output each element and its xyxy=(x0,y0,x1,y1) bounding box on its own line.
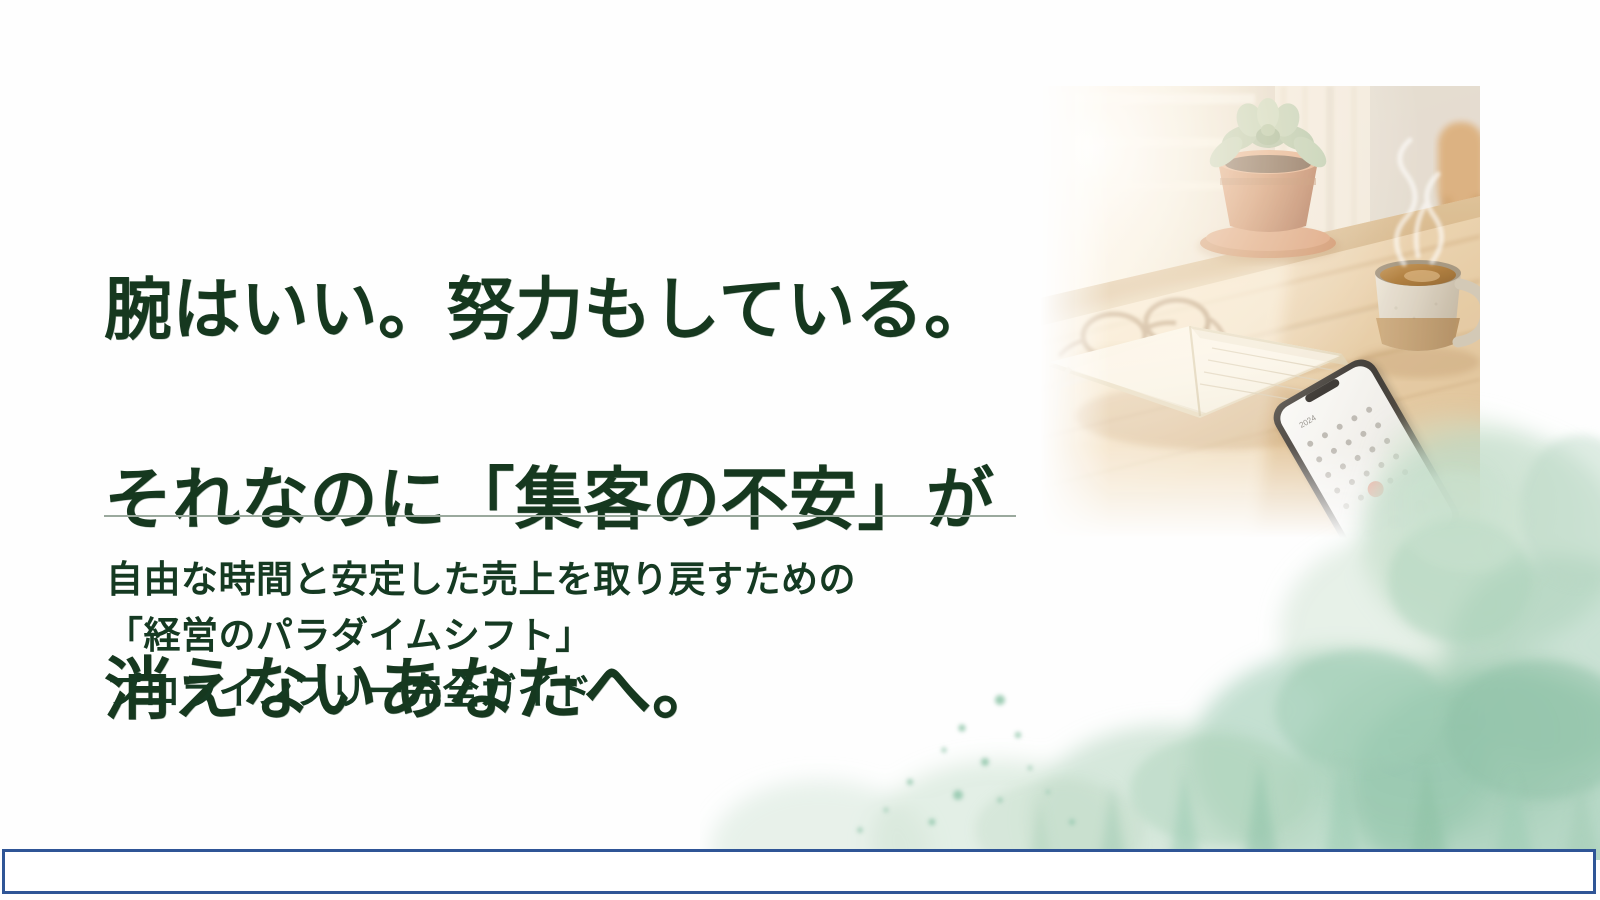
subtitle-line-1: 自由な時間と安定した売上を取り戻すための xyxy=(106,552,1046,608)
page-subtitle: 自由な時間と安定した売上を取り戻すための 「経営のパラダイムシフト」 プロライン… xyxy=(106,552,1046,720)
headline-line-1: 腕はいい。努力もしている。 xyxy=(104,263,1064,358)
subtitle-line-3: プロラインフリー完全ガイド xyxy=(106,664,1046,720)
desk-photo-illustration: 2024 xyxy=(1040,86,1480,538)
page-title: 腕はいい。努力もしている。 それなのに「集客の不安」が 消えないあなたへ。 xyxy=(104,168,1064,833)
desk-photo: 2024 xyxy=(1040,86,1480,538)
bottom-text-box[interactable] xyxy=(2,849,1596,894)
subtitle-line-2: 「経営のパラダイムシフト」 xyxy=(106,608,1046,664)
headline-line-2: それなのに「集客の不安」が xyxy=(104,453,1064,548)
title-divider xyxy=(104,515,1016,517)
slide-canvas: 2024 xyxy=(0,0,1600,900)
